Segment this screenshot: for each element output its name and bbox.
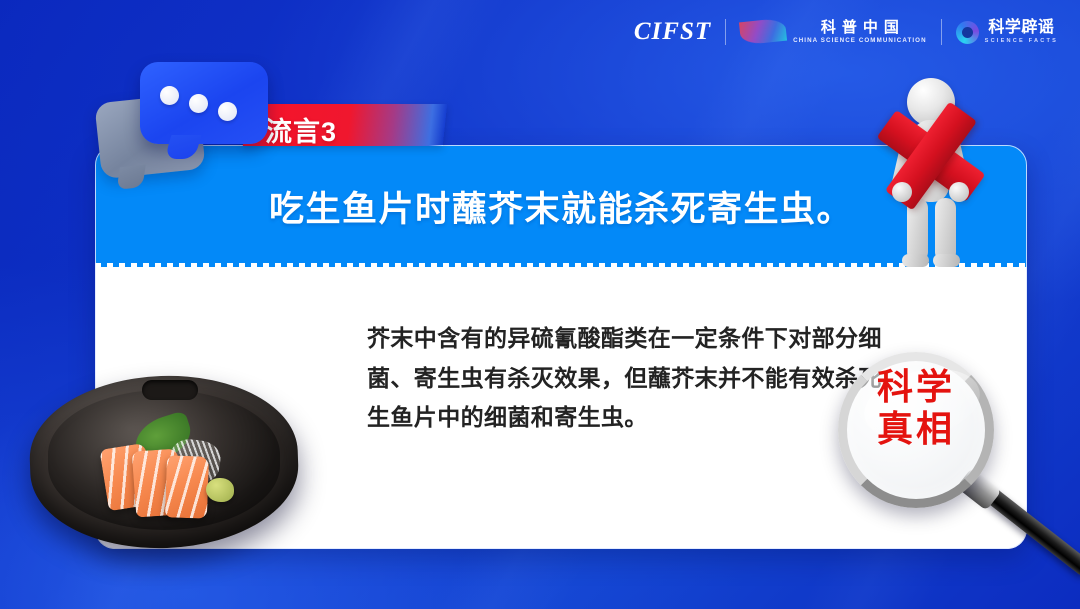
sf-label-cn: 科学辟谣: [988, 20, 1054, 36]
magnifier-illustration: 科学 真相: [838, 352, 1078, 602]
csc-label-cn: 科普中国: [815, 20, 905, 35]
bubble-dot-2: [189, 94, 208, 113]
csc-label-en: CHINA SCIENCE COMMUNICATION: [793, 38, 927, 44]
person-hand-left: [892, 182, 912, 202]
salmon-slice-3: [165, 455, 209, 518]
header-bar: CIFST 科普中国 CHINA SCIENCE COMMUNICATION 科…: [0, 0, 1080, 64]
science-truth-stamp: 科学 真相: [840, 366, 992, 450]
poster-root: CIFST 科普中国 CHINA SCIENCE COMMUNICATION 科…: [0, 0, 1080, 609]
bubble-dot-3: [218, 102, 237, 121]
wing-icon: [739, 18, 787, 46]
red-x-icon: [867, 92, 995, 220]
sf-text: 科学辟谣 SCIENCE FACTS: [985, 20, 1058, 45]
person-foot-right: [933, 254, 960, 267]
sf-label-en: SCIENCE FACTS: [985, 39, 1058, 45]
logo-divider-2: [941, 19, 942, 45]
chat-bubble-front: [140, 62, 268, 144]
science-facts-logo: 科学辟谣 SCIENCE FACTS: [956, 20, 1058, 45]
chat-bubbles-icon: [98, 62, 270, 180]
rumor-explanation: 芥末中含有的异硫氰酸酯类在一定条件下对部分细菌、寄生虫有杀灭效果，但蘸芥末并不能…: [367, 319, 887, 438]
bubble-dot-1: [160, 86, 179, 105]
rumor-ribbon-label: 流言3: [265, 110, 337, 149]
logo-divider-1: [725, 19, 726, 45]
csc-text: 科普中国 CHINA SCIENCE COMMUNICATION: [793, 20, 927, 44]
brand-logos: CIFST 科普中国 CHINA SCIENCE COMMUNICATION 科…: [634, 18, 1058, 46]
sashimi-photo: [30, 368, 298, 563]
person-hand-right: [949, 182, 969, 202]
stamp-line-1: 科学: [840, 366, 992, 408]
swirl-icon: [956, 21, 979, 44]
cifst-logo: CIFST: [634, 18, 711, 46]
wasabi-dollop: [206, 478, 234, 502]
person-with-x-illustration: [855, 78, 1005, 268]
plate-handle-notch: [142, 380, 198, 400]
person-foot-left: [902, 254, 929, 267]
stamp-line-2: 真相: [840, 408, 992, 450]
china-science-communication-logo: 科普中国 CHINA SCIENCE COMMUNICATION: [740, 20, 927, 44]
